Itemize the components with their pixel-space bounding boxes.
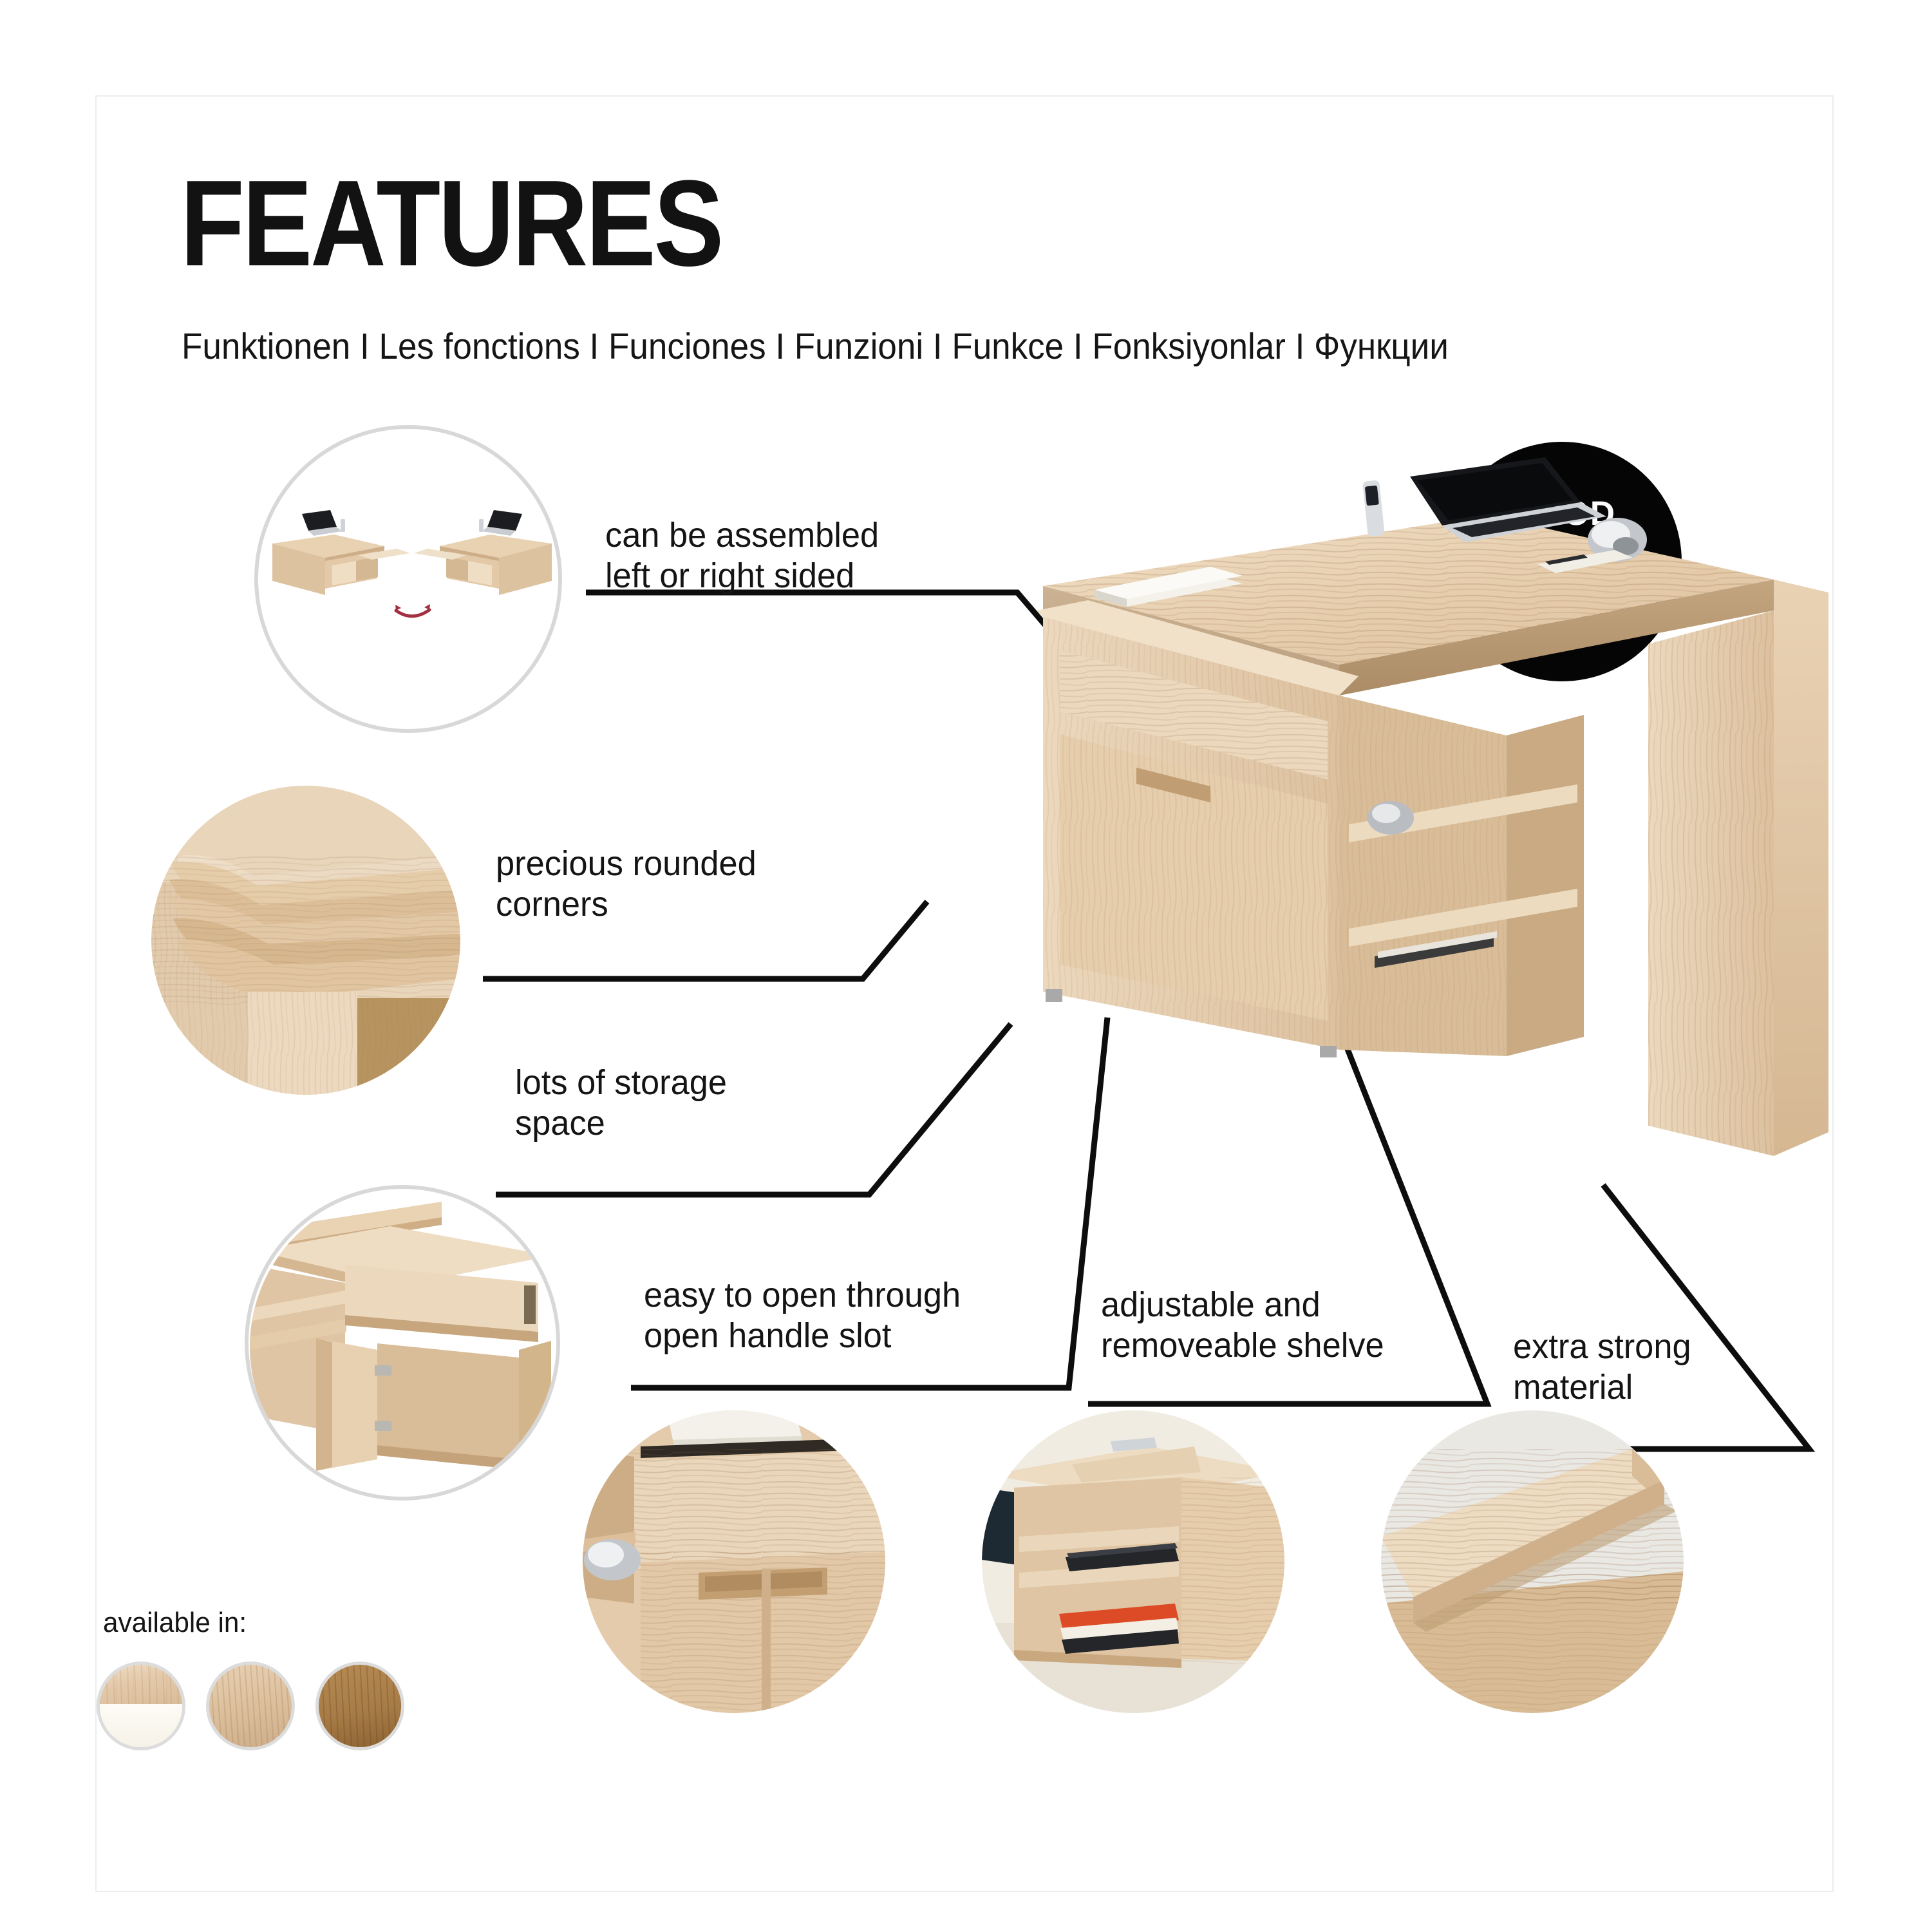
- callout-easy-to-open-handle-slot: easy to open through open handle slot: [644, 1275, 1069, 1356]
- swatch-bottom-half: [100, 1704, 182, 1747]
- callout-lots-of-storage-space: lots of storage space: [515, 1063, 852, 1143]
- features-sheet: FEATURES Funktionen I Les fonctions I Fu…: [95, 95, 1834, 1892]
- inset-handle-slot: [583, 1410, 885, 1713]
- finish-swatch-row: [97, 1662, 404, 1750]
- inset-open-shelf: [982, 1410, 1284, 1713]
- callout-can-be-assembled: can be assembled left or right sided: [605, 515, 1005, 596]
- product-illustration: [998, 374, 1828, 1378]
- swatch-top-half: [100, 1665, 182, 1704]
- inset-panel-edge: [1381, 1410, 1684, 1713]
- callout-adjustable-removeable-shelve: adjustable and removeable shelve: [1101, 1285, 1482, 1365]
- callout-extra-strong-material: extra strong material: [1513, 1327, 1813, 1407]
- callout-precious-rounded-corners: precious rounded corners: [496, 844, 858, 924]
- swatch-light-oak[interactable]: [206, 1662, 295, 1750]
- inset-rounded-corner: [151, 786, 460, 1095]
- swatch-oak-white[interactable]: [97, 1662, 185, 1750]
- swatch-walnut-oak[interactable]: [315, 1662, 404, 1750]
- inset-open-storage: [245, 1185, 560, 1501]
- available-in-label: available in:: [103, 1607, 247, 1639]
- inset-mirror-desks: [254, 425, 562, 733]
